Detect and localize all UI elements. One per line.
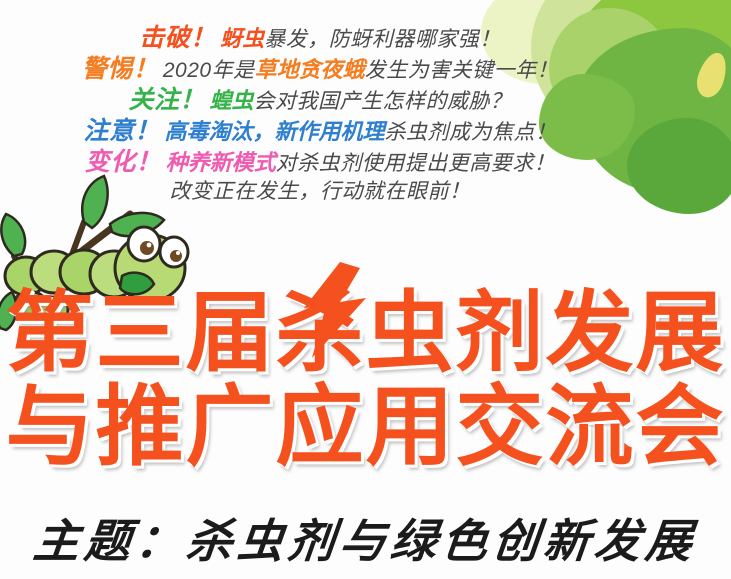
headline-5-keyword: 种养新模式 xyxy=(166,150,276,175)
headline-line-2: 警惕！ 2020年是草地贪夜蛾发生为害关键一年！ xyxy=(0,57,640,82)
headline-2-keyword: 草地贪夜蛾 xyxy=(255,57,365,82)
headline-block: 击破！ 蚜虫暴发，防蚜利器哪家强！ 警惕！ 2020年是草地贪夜蛾发生为害关键一… xyxy=(0,26,640,208)
headline-line-5: 变化！ 种养新模式对杀虫剂使用提出更高要求！ xyxy=(0,150,640,175)
headline-1-rest: 暴发，防蚜利器哪家强！ xyxy=(264,28,501,51)
headline-line-3: 关注！ 蝗虫会对我国产生怎样的威胁？ xyxy=(0,88,640,113)
main-title-line-2-text: 与推广应用交流会 xyxy=(5,377,725,476)
theme-line: 主题：杀虫剂与绿色创新发展 xyxy=(0,505,731,571)
headline-4-tag: 注意！ xyxy=(84,117,161,145)
main-title-line-1-text: 第三届杀虫剂发展 xyxy=(5,283,725,382)
closing-text: 改变正在发生，行动就在眼前！ xyxy=(170,180,471,203)
headline-1-tag: 击破！ xyxy=(139,24,216,52)
main-title-line-1: 第三届杀虫剂发展 xyxy=(0,288,731,378)
headline-closing-line: 改变正在发生，行动就在眼前！ xyxy=(0,181,640,202)
headline-4-rest: 杀虫剂成为焦点！ xyxy=(384,121,556,144)
headline-2-lead: 2020年是 xyxy=(163,59,255,82)
headline-3-keyword: 蝗虫 xyxy=(209,88,253,113)
deco-seed-yellow xyxy=(693,49,731,101)
headline-2-rest: 发生为害关键一年！ xyxy=(365,59,559,82)
headline-line-4: 注意！ 高毒淘汰，新作用机理杀虫剂成为焦点！ xyxy=(0,119,640,144)
headline-5-tag: 变化！ xyxy=(85,148,162,176)
main-title-line-2: 与推广应用交流会 xyxy=(0,382,731,472)
headline-line-1: 击破！ 蚜虫暴发，防蚜利器哪家强！ xyxy=(0,26,640,51)
headline-3-tag: 关注！ xyxy=(129,86,206,114)
headline-3-rest: 会对我国产生怎样的威胁？ xyxy=(253,90,511,113)
headline-1-keyword: 蚜虫 xyxy=(220,26,264,51)
headline-4-keyword: 高毒淘汰，新作用机理 xyxy=(164,119,384,144)
main-title-block: 第三届杀虫剂发展 与推广应用交流会 xyxy=(0,288,731,472)
headline-5-rest: 对杀虫剂使用提出更高要求！ xyxy=(276,152,556,175)
headline-2-tag: 警惕！ xyxy=(82,55,159,83)
deco-blob-green-5 xyxy=(627,118,731,214)
poster-canvas: 击破！ 蚜虫暴发，防蚜利器哪家强！ 警惕！ 2020年是草地贪夜蛾发生为害关键一… xyxy=(0,0,731,579)
